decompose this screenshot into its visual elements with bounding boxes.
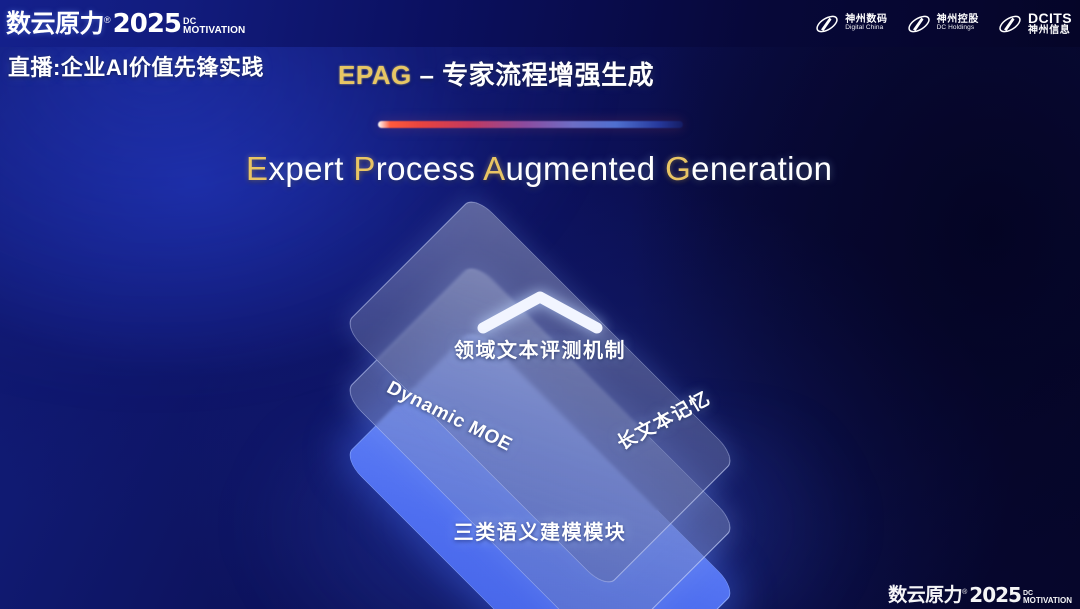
logo-dc-holdings-text: 神州控股 DC Holdings: [937, 15, 979, 32]
brand-name-cn: 数云原力: [6, 12, 104, 37]
logo-dc-holdings-en: DC Holdings: [937, 25, 979, 32]
subtitle-part-7: eneration: [691, 150, 832, 187]
logo-dcits-name: DCITS: [1028, 11, 1072, 26]
watermark-year: 2025: [969, 585, 1021, 605]
headline-acronym: EPAG: [338, 60, 412, 90]
subtitle-part-6: G: [665, 150, 691, 187]
slide-subtitle: Expert Process Augmented Generation: [246, 150, 832, 188]
watermark-registered-mark: ®: [962, 589, 967, 596]
brand-dc-line2: MOTIVATION: [183, 26, 245, 36]
brand-dc-motivation: DC MOTIVATION: [183, 17, 245, 35]
stream-header-bar: 数云原力 ® 2025 DC MOTIVATION 神州数码 Digital C…: [0, 0, 1080, 47]
swirl-logo-icon: [906, 12, 932, 36]
watermark-dc-line2: MOTIVATION: [1023, 597, 1072, 605]
sponsor-logo-group: 神州数码 Digital China 神州控股 DC Holdings: [814, 11, 1072, 36]
subtitle-part-1: xpert: [268, 150, 353, 187]
subtitle-part-2: P: [353, 150, 375, 187]
swirl-logo-icon: [814, 12, 840, 36]
diagram-layer-top-label: 领域文本评测机制: [454, 334, 626, 363]
slide-headline: EPAG – 专家流程增强生成: [338, 55, 654, 92]
live-stream-title: 直播:企业AI价值先锋实践: [8, 50, 264, 82]
brand-registered-mark: ®: [104, 15, 111, 25]
logo-dc-holdings: 神州控股 DC Holdings: [906, 12, 979, 36]
logo-digital-china: 神州数码 Digital China: [814, 12, 887, 36]
watermark-dc-motivation: DC MOTIVATION: [1023, 591, 1072, 605]
slide-canvas: 数云原力 ® 2025 DC MOTIVATION 神州数码 Digital C…: [0, 0, 1080, 609]
logo-dcits-text: DCITS 神州信息: [1028, 11, 1072, 36]
corner-watermark-logo: 数云原力 ® 2025 DC MOTIVATION: [888, 585, 1072, 605]
subtitle-part-5: ugmented: [506, 150, 666, 187]
gradient-divider: [378, 121, 683, 128]
logo-digital-china-text: 神州数码 Digital China: [845, 15, 887, 32]
subtitle-part-0: E: [246, 150, 268, 187]
watermark-brand-cn: 数云原力: [888, 586, 962, 605]
logo-dcits: DCITS 神州信息: [997, 11, 1072, 36]
subtitle-part-3: rocess: [376, 150, 483, 187]
diagram-layer-bottom-label: 三类语义建模模块: [454, 516, 627, 545]
logo-dcits-cn: 神州信息: [1028, 26, 1072, 37]
chevron-up-icon: [475, 288, 605, 334]
event-brand-logo: 数云原力 ® 2025 DC MOTIVATION: [6, 11, 245, 37]
brand-year: 2025: [113, 11, 181, 37]
subtitle-part-4: A: [483, 150, 505, 187]
headline-chinese: – 专家流程增强生成: [412, 60, 654, 90]
isometric-layer-diagram: 领域文本评测机制 Dynamic MOE 长文本记忆 三类语义建模模块: [285, 228, 795, 596]
swirl-logo-icon: [997, 12, 1023, 36]
logo-digital-china-en: Digital China: [845, 25, 887, 32]
